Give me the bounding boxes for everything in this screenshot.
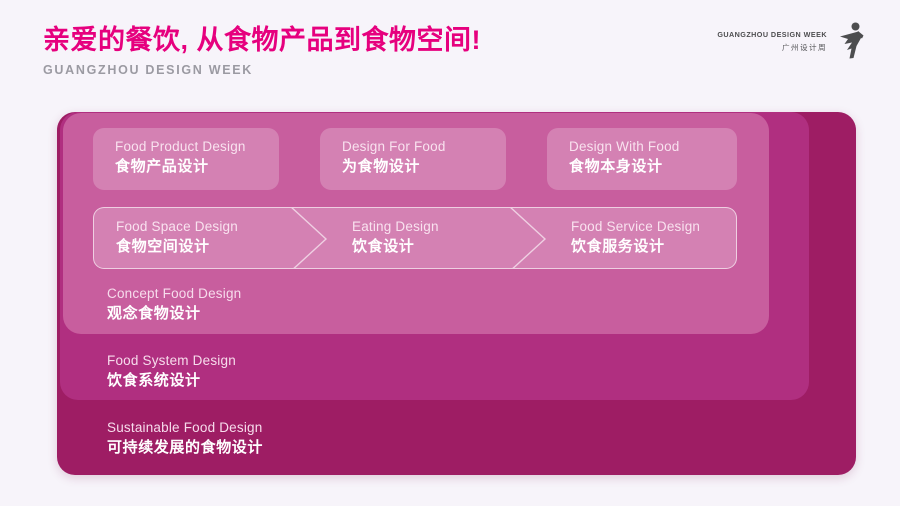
food-design-nested-diagram: Concept Food Design 观念食物设计 Food System D…	[0, 0, 900, 506]
card-design-with-food[interactable]: Design With Food 食物本身设计	[547, 128, 737, 190]
label-food-system-design: Food System Design 饮食系统设计	[107, 353, 236, 391]
card-design-for-food[interactable]: Design For Food 为食物设计	[320, 128, 506, 190]
label-cn: 观念食物设计	[107, 304, 241, 324]
card-label-cn: 食物本身设计	[569, 157, 737, 177]
label-en: Concept Food Design	[107, 286, 241, 303]
label-concept-food-design: Concept Food Design 观念食物设计	[107, 286, 241, 324]
flow-label-cn: 食物空间设计	[116, 237, 238, 257]
label-sustainable-food-design: Sustainable Food Design 可持续发展的食物设计	[107, 420, 263, 458]
flow-label-cn: 饮食服务设计	[571, 237, 700, 257]
flow-chevron-bar: Food Space Design 食物空间设计 Eating Design 饮…	[93, 207, 737, 269]
card-label-cn: 食物产品设计	[115, 157, 279, 177]
label-en: Food System Design	[107, 353, 236, 370]
flow-label-en: Food Service Design	[571, 219, 700, 236]
flow-step-eating-design[interactable]: Eating Design 饮食设计	[352, 219, 439, 257]
label-cn: 饮食系统设计	[107, 371, 236, 391]
label-en: Sustainable Food Design	[107, 420, 263, 437]
flow-label-en: Food Space Design	[116, 219, 238, 236]
flow-step-food-space-design[interactable]: Food Space Design 食物空间设计	[116, 219, 238, 257]
card-label-en: Design For Food	[342, 139, 506, 156]
label-cn: 可持续发展的食物设计	[107, 438, 263, 458]
card-food-product-design[interactable]: Food Product Design 食物产品设计	[93, 128, 279, 190]
card-label-en: Food Product Design	[115, 139, 279, 156]
flow-step-food-service-design[interactable]: Food Service Design 饮食服务设计	[571, 219, 700, 257]
card-label-cn: 为食物设计	[342, 157, 506, 177]
flow-label-cn: 饮食设计	[352, 237, 439, 257]
flow-label-en: Eating Design	[352, 219, 439, 236]
card-label-en: Design With Food	[569, 139, 737, 156]
